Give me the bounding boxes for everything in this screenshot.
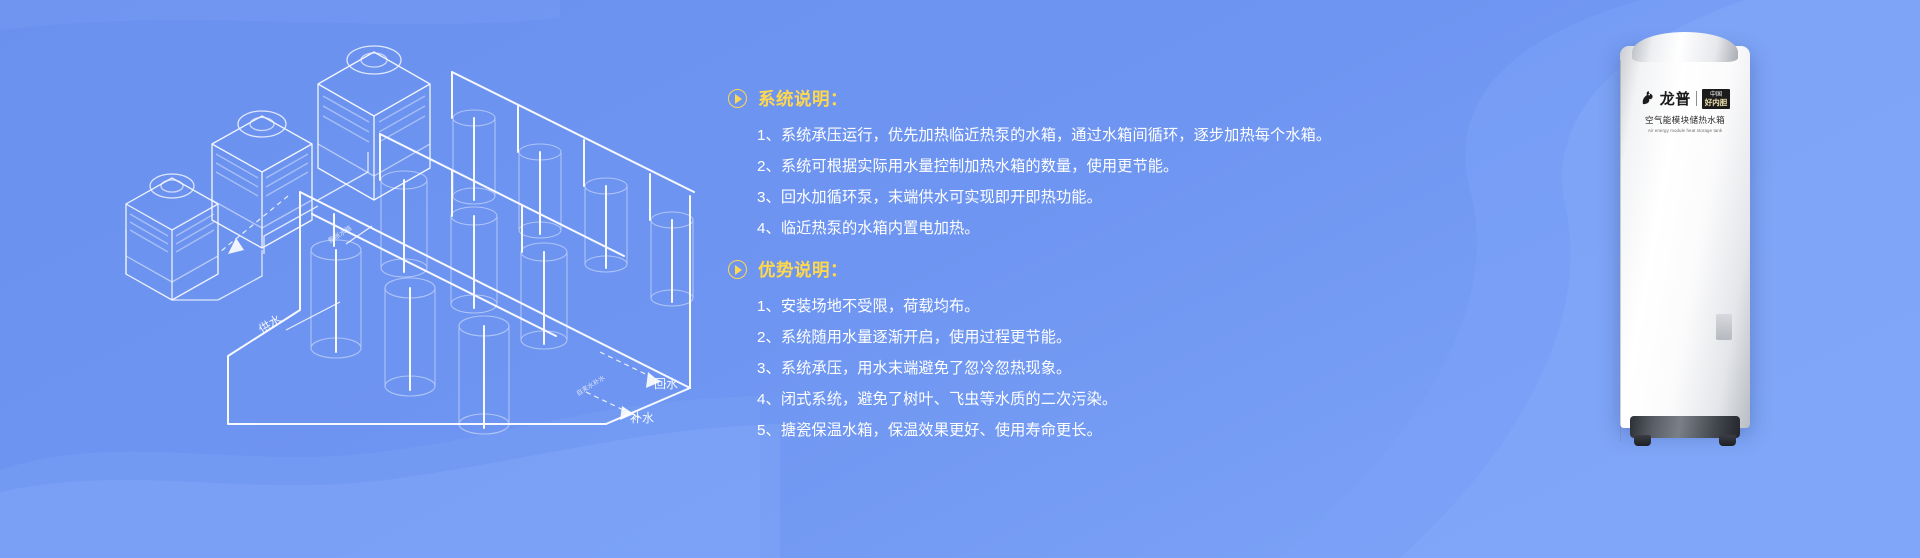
system-description-list: 1、系统承压运行，优先加热临近热泵的水箱，通过水箱间循环，逐步加热每个水箱。 2…	[757, 120, 1328, 244]
section-header-system: 系统说明：	[728, 86, 1328, 111]
play-circle-icon	[728, 260, 747, 279]
list-item: 1、系统承压运行，优先加热临近热泵的水箱，通过水箱间循环，逐步加热每个水箱。	[757, 120, 1328, 151]
product-title-en: Air energy module heat storage tank	[1620, 128, 1750, 133]
list-item: 2、系统可根据实际用水量控制加热水箱的数量，使用更节能。	[757, 151, 1328, 182]
banner-root: 供水 回水 补水 膨胀水箱 自来水补水 系统说明： 1、系统承压运行，优先加热临…	[0, 0, 1920, 558]
diagram-label-0: 供水	[256, 312, 284, 337]
diagram-label-4: 自来水补水	[574, 373, 607, 398]
brand-badge-line1: 中国	[1710, 92, 1722, 98]
play-circle-icon	[728, 89, 747, 108]
list-item: 1、安装场地不受限，荷载均布。	[757, 291, 1328, 322]
list-item: 2、系统随用水量逐渐开启，使用过程更节能。	[757, 322, 1328, 353]
brand-badge: 中国 好内胆	[1702, 89, 1731, 109]
section-header-advantage: 优势说明：	[728, 257, 1328, 282]
list-item: 3、系统承压，用水末端避免了忽冷忽热现象。	[757, 353, 1328, 384]
tank-foot-left	[1634, 435, 1651, 446]
brand-badge-line2: 好内胆	[1705, 99, 1728, 107]
brand-row: 龙普 中国 好内胆	[1620, 88, 1750, 109]
list-item: 3、回水加循环泵，末端供水可实现即开即热功能。	[757, 182, 1328, 213]
section-spacer	[728, 244, 1328, 257]
brand-name: 龙普	[1660, 88, 1691, 109]
description-column: 系统说明： 1、系统承压运行，优先加热临近热泵的水箱，通过水箱间循环，逐步加热每…	[728, 86, 1328, 446]
system-isometric-diagram: 供水 回水 补水 膨胀水箱 自来水补水	[0, 0, 760, 558]
product-title: 空气能模块储热水箱	[1620, 114, 1750, 126]
product-water-tank: 龙普 中国 好内胆 空气能模块储热水箱 Air energy module he…	[1620, 32, 1750, 452]
section-title-advantage: 优势说明：	[758, 257, 848, 282]
dragon-logo-icon	[1640, 90, 1655, 107]
tank-branding: 龙普 中国 好内胆 空气能模块储热水箱 Air energy module he…	[1620, 88, 1750, 133]
tank-foot-right	[1719, 435, 1736, 446]
list-item: 4、闭式系统，避免了树叶、飞虫等水质的二次污染。	[757, 384, 1328, 415]
tank-top-cap	[1632, 32, 1738, 62]
diagram-label-1: 回水	[654, 377, 678, 391]
list-item: 5、搪瓷保温水箱，保温效果更好、使用寿命更长。	[757, 415, 1328, 446]
diagram-label-2: 补水	[630, 411, 654, 425]
advantage-description-list: 1、安装场地不受限，荷载均布。 2、系统随用水量逐渐开启，使用过程更节能。 3、…	[757, 291, 1328, 446]
section-title-system: 系统说明：	[758, 86, 848, 111]
list-item: 4、临近热泵的水箱内置电加热。	[757, 213, 1328, 244]
brand-divider	[1696, 91, 1697, 106]
tank-control-panel	[1716, 314, 1732, 340]
